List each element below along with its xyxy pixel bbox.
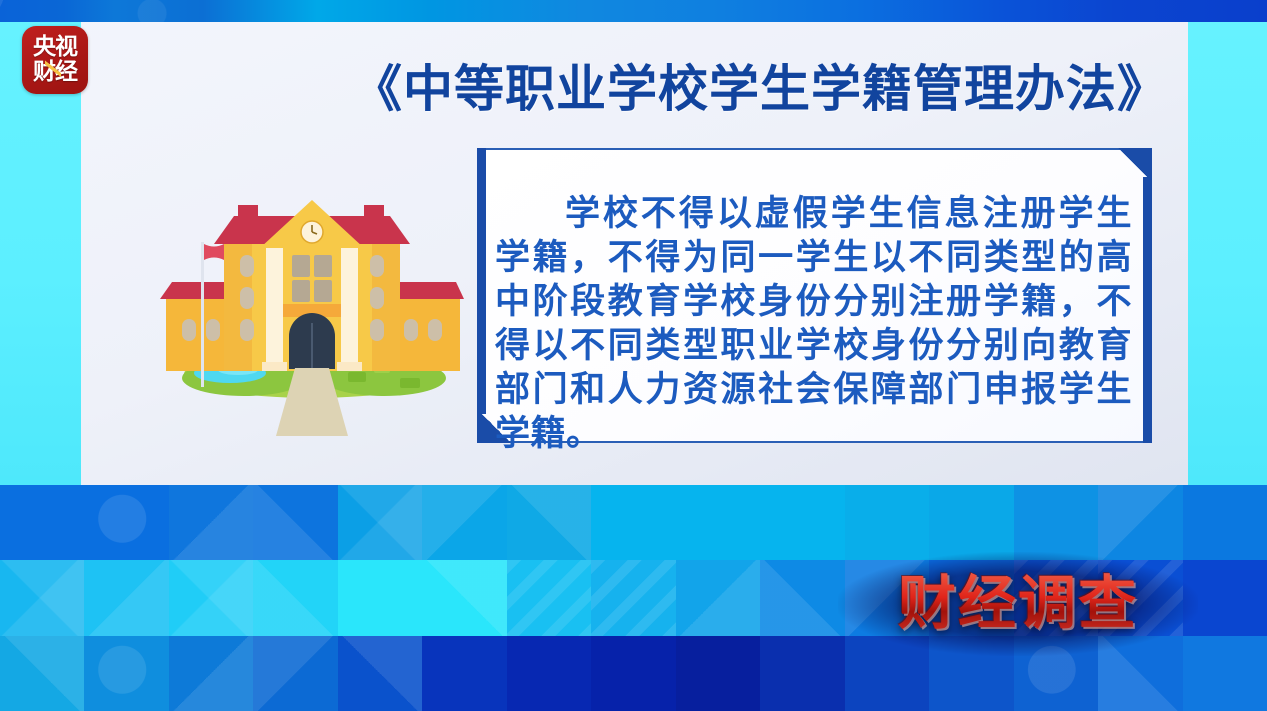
mosaic-tile-glyph (591, 636, 675, 711)
mosaic-tile-glyph (507, 636, 591, 711)
mosaic-tile-glyph (507, 485, 591, 560)
mosaic-tile (507, 636, 591, 711)
mosaic-tile (0, 560, 84, 635)
mosaic-tile-glyph (422, 560, 506, 635)
mosaic-tile (169, 636, 253, 711)
cctv-finance-logo: 央视 财经 (22, 26, 88, 94)
column-right (341, 248, 358, 368)
broadcast-frame: 央视 财经 《中等职业学校学生学籍管理办法》 (0, 0, 1267, 711)
mosaic-tile (591, 636, 675, 711)
mosaic-tile (507, 560, 591, 635)
cctv-logo-line1: 央视 (33, 35, 77, 60)
school-icon (152, 186, 472, 436)
mosaic-tile (422, 485, 506, 560)
column-left (266, 248, 283, 368)
mosaic-tile-glyph (253, 636, 337, 711)
mosaic-tile (169, 560, 253, 635)
mosaic-tile (338, 636, 422, 711)
mosaic-tile (169, 485, 253, 560)
mosaic-tile (422, 560, 506, 635)
mosaic-tile-glyph (253, 485, 337, 560)
school-building-illustration (152, 186, 472, 436)
mosaic-tile-glyph (929, 485, 1013, 560)
mosaic-tile (0, 485, 84, 560)
mosaic-tile (760, 560, 844, 635)
page-title: 《中等职业学校学生学籍管理办法》 (330, 58, 1190, 120)
mosaic-tile (84, 560, 168, 635)
mosaic-tile (338, 485, 422, 560)
mosaic-tile-glyph (169, 560, 253, 635)
mosaic-tile-glyph (169, 485, 253, 560)
mosaic-tile (84, 636, 168, 711)
panel-right-accent (1143, 177, 1152, 443)
red-flag (204, 244, 224, 260)
mosaic-tile-glyph (338, 485, 422, 560)
program-logo: 财经调查 (868, 567, 1168, 639)
mosaic-tile-glyph (84, 485, 168, 560)
mosaic-tile-glyph (253, 560, 337, 635)
mosaic-tile-glyph (760, 560, 844, 635)
mosaic-tile (1183, 485, 1267, 560)
mosaic-tile (422, 636, 506, 711)
mosaic-tile (253, 560, 337, 635)
mosaic-tile (591, 485, 675, 560)
mosaic-tile-glyph (338, 636, 422, 711)
mosaic-tile (1098, 485, 1182, 560)
mosaic-tile-glyph (0, 485, 84, 560)
mosaic-tile-glyph (169, 636, 253, 711)
mosaic-tile-glyph (84, 560, 168, 635)
mosaic-tile-glyph (676, 636, 760, 711)
mosaic-tile-glyph (760, 636, 844, 711)
mosaic-tile (1014, 485, 1098, 560)
mosaic-tile-glyph (1183, 485, 1267, 560)
mosaic-tile-glyph (422, 636, 506, 711)
mosaic-tile-glyph (0, 560, 84, 635)
mosaic-tile (676, 636, 760, 711)
mosaic-tile-glyph (84, 636, 168, 711)
mosaic-tile (253, 636, 337, 711)
panel-corner-top-right (1118, 148, 1152, 182)
mosaic-tile-glyph (676, 560, 760, 635)
mosaic-tile-glyph (338, 560, 422, 635)
mosaic-tile (338, 560, 422, 635)
flag-pole (201, 242, 204, 387)
mosaic-tile-glyph (507, 560, 591, 635)
mosaic-tile (253, 485, 337, 560)
mosaic-tile (760, 485, 844, 560)
mosaic-tile (84, 485, 168, 560)
mosaic-tile-glyph (845, 485, 929, 560)
mosaic-tile-glyph (1098, 485, 1182, 560)
mosaic-tile-glyph (1014, 485, 1098, 560)
mosaic-tile (507, 485, 591, 560)
mosaic-tile-glyph (591, 560, 675, 635)
mosaic-tile (0, 636, 84, 711)
mosaic-tile (845, 485, 929, 560)
top-accent-band (0, 0, 1267, 22)
chimney-right (364, 205, 384, 219)
mosaic-tile-glyph (760, 485, 844, 560)
quote-panel: 学校不得以虚假学生信息注册学生学籍，不得为同一学生以不同类型的高中阶段教育学校身… (477, 148, 1152, 443)
mosaic-tile-glyph (676, 485, 760, 560)
panel-left-accent (477, 148, 486, 414)
mosaic-tile (760, 636, 844, 711)
mosaic-tile (929, 485, 1013, 560)
cctv-logo-line2: 财经 (33, 60, 77, 85)
cyan-right-band (1188, 22, 1267, 485)
quote-text: 学校不得以虚假学生信息注册学生学籍，不得为同一学生以不同类型的高中阶段教育学校身… (495, 192, 1132, 456)
mosaic-tile (676, 560, 760, 635)
mosaic-tile-glyph (591, 485, 675, 560)
mosaic-tile (591, 560, 675, 635)
mosaic-tile-glyph (0, 636, 84, 711)
chimney-left (238, 205, 258, 219)
mosaic-tile (676, 485, 760, 560)
mosaic-tile-glyph (422, 485, 506, 560)
